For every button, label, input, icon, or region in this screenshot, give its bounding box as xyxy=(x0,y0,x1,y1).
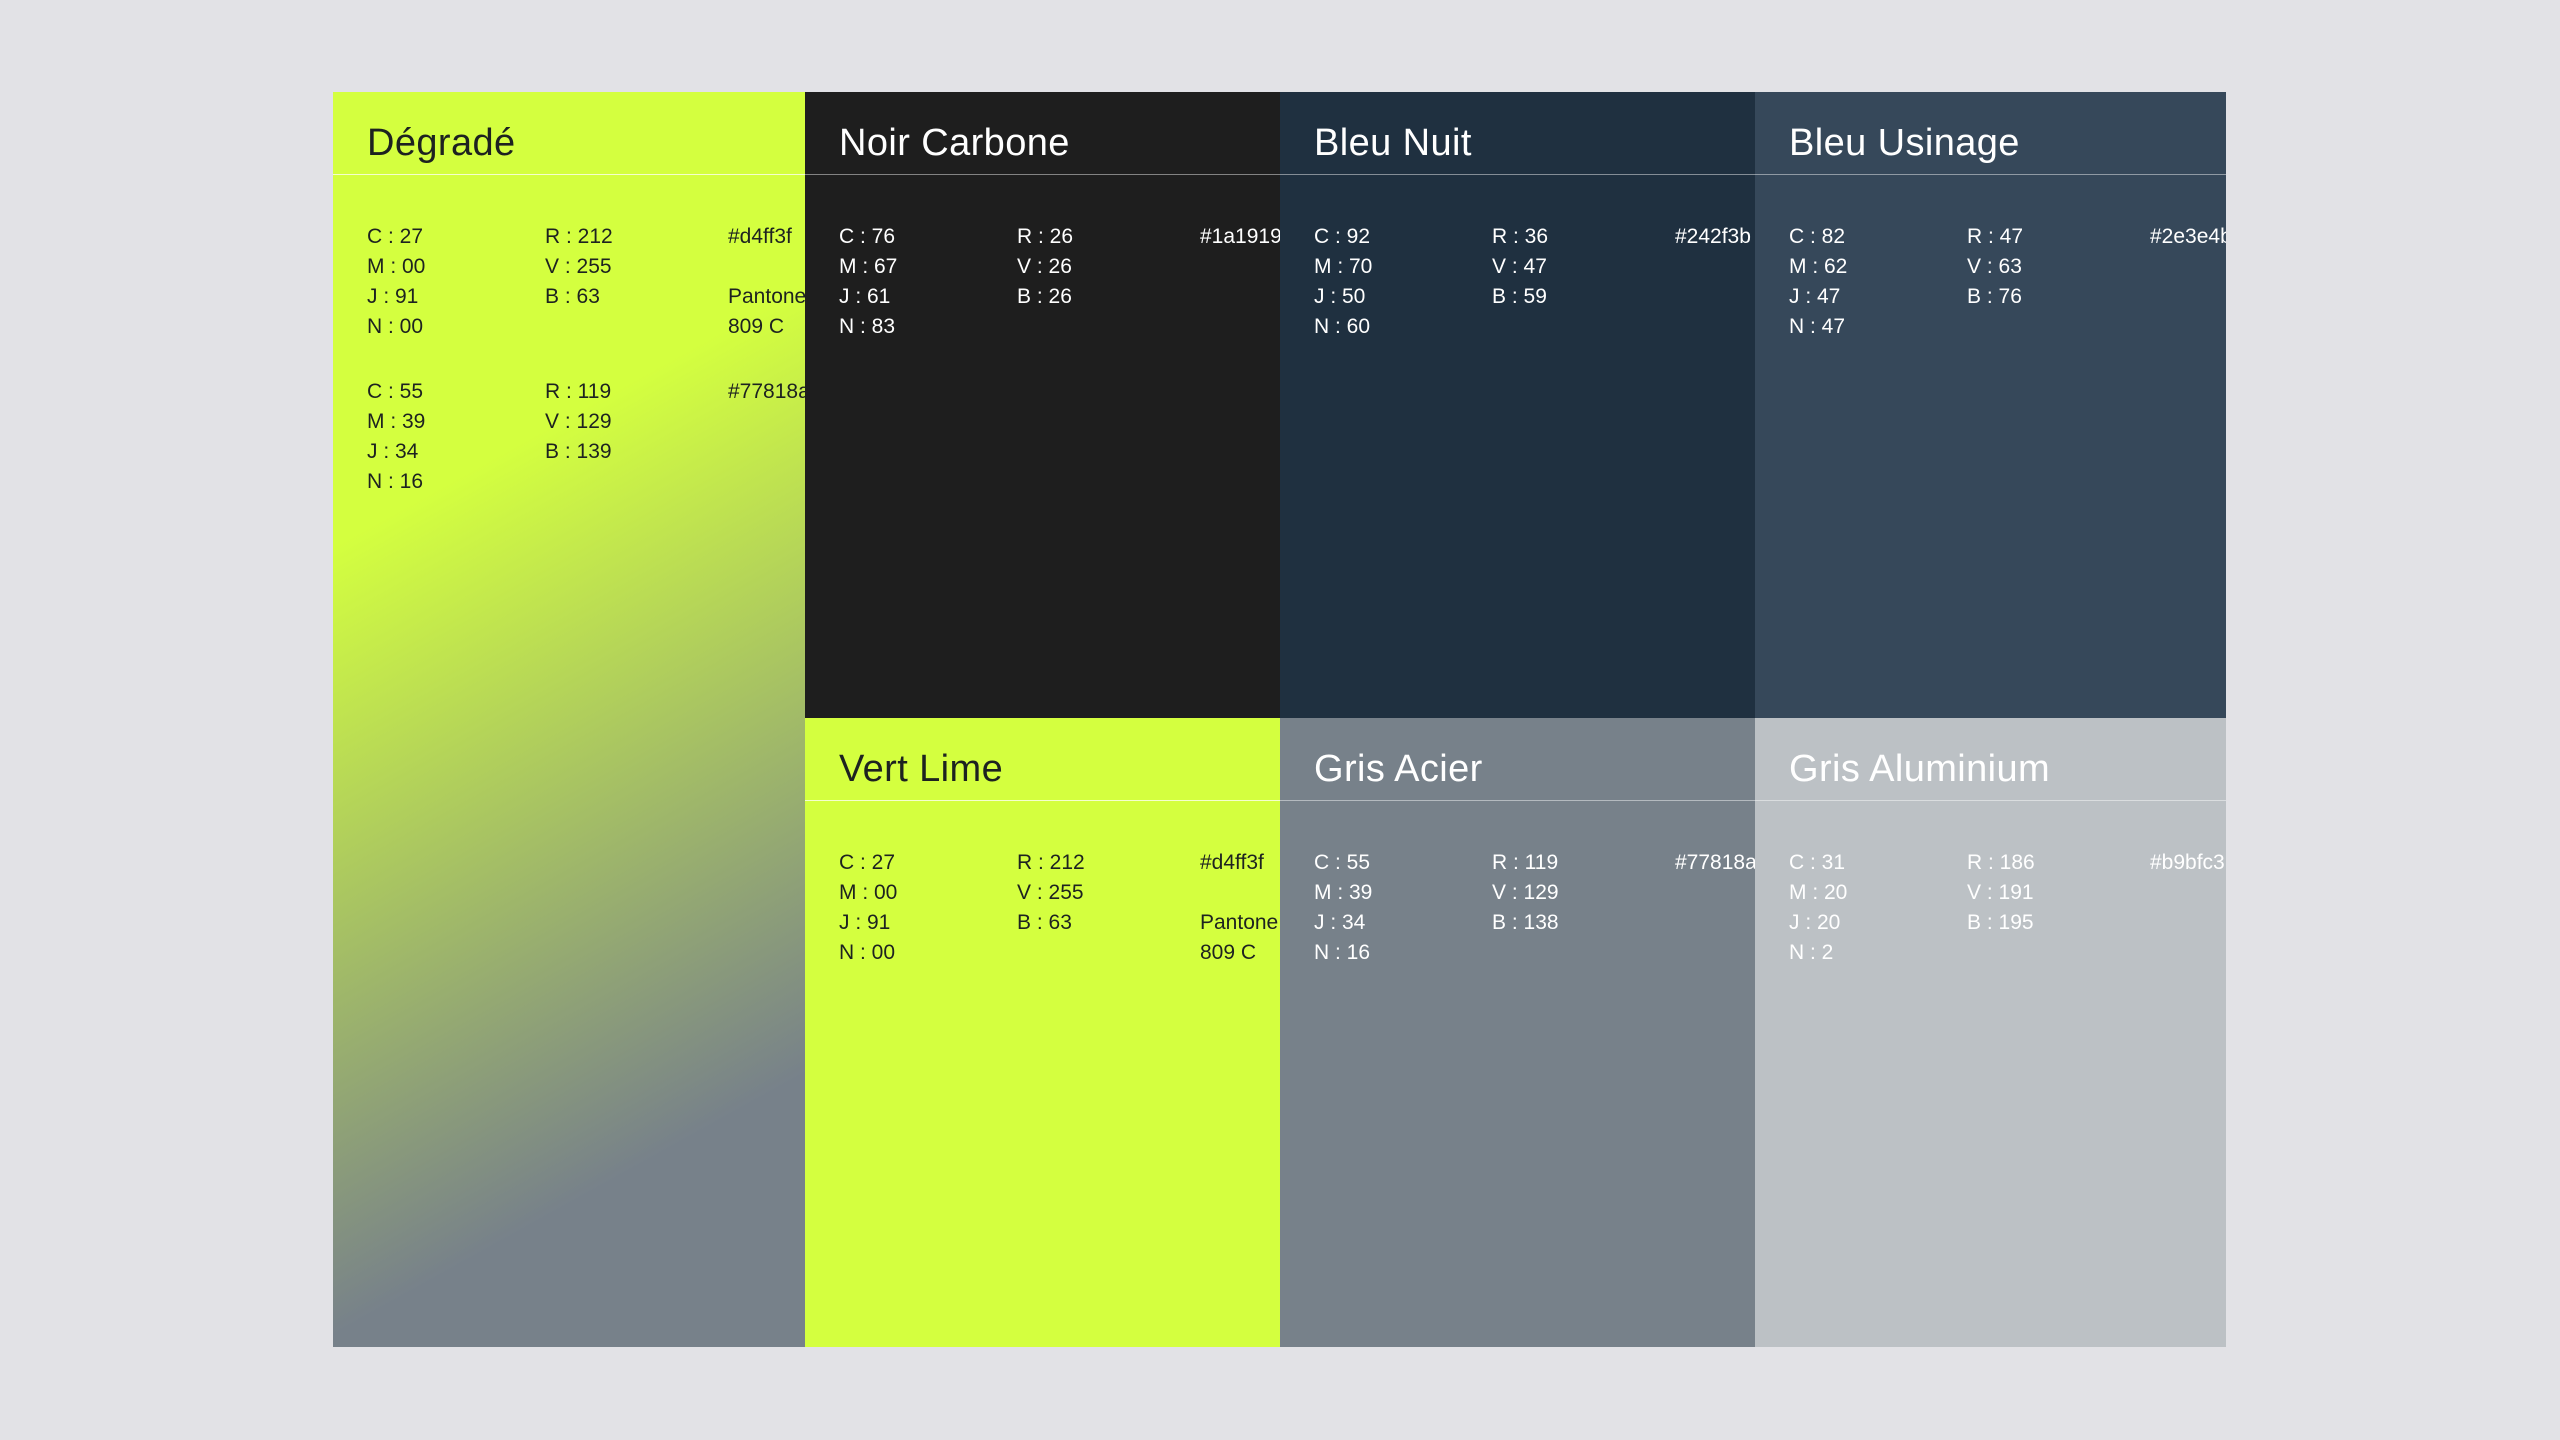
spec-block-secondary: C : 55 M : 39 J : 34 N : 16 R : 119 V : … xyxy=(367,377,805,497)
spacer xyxy=(728,252,805,282)
rgb-column: R : 186 V : 191 B : 195 xyxy=(1967,848,2150,938)
hex-column: #77818a xyxy=(728,377,805,407)
hex-value: #b9bfc3 xyxy=(2150,848,2226,878)
cmyk-m: M : 00 xyxy=(839,878,1017,908)
swatch-bleu-nuit[interactable]: Bleu Nuit C : 92 M : 70 J : 50 N : 60 R … xyxy=(1280,92,1755,718)
cmyk-j: J : 91 xyxy=(367,282,545,312)
swatch-title-bleu-usinage: Bleu Usinage xyxy=(1789,124,2020,162)
cmyk-j: J : 91 xyxy=(839,908,1017,938)
rgb-v: V : 129 xyxy=(545,407,728,437)
rgb-b: B : 26 xyxy=(1017,282,1200,312)
swatch-title-noir-carbone: Noir Carbone xyxy=(839,124,1070,162)
hex-column: #1a1919 xyxy=(1200,222,1280,252)
rgb-v: V : 63 xyxy=(1967,252,2150,282)
rgb-r: R : 47 xyxy=(1967,222,2150,252)
swatch-noir-carbone[interactable]: Noir Carbone C : 76 M : 67 J : 61 N : 83… xyxy=(805,92,1280,718)
cmyk-m: M : 39 xyxy=(367,407,545,437)
spec-block-primary: C : 76 M : 67 J : 61 N : 83 R : 26 V : 2… xyxy=(839,222,1280,342)
cmyk-column: C : 55 M : 39 J : 34 N : 16 xyxy=(1314,848,1492,968)
rgb-v: V : 255 xyxy=(1017,878,1200,908)
hex-value: #77818a xyxy=(1675,848,1755,878)
title-divider xyxy=(1755,174,2226,175)
cmyk-j: J : 20 xyxy=(1789,908,1967,938)
rgb-column: R : 36 V : 47 B : 59 xyxy=(1492,222,1675,312)
cmyk-column: C : 82 M : 62 J : 47 N : 47 xyxy=(1789,222,1967,342)
cmyk-n: N : 16 xyxy=(367,467,545,497)
title-divider xyxy=(1280,800,1755,801)
cmyk-column: C : 27 M : 00 J : 91 N : 00 xyxy=(367,222,545,342)
hex-value: #d4ff3f xyxy=(1200,848,1280,878)
hex-column: #b9bfc3 xyxy=(2150,848,2226,878)
rgb-b: B : 195 xyxy=(1967,908,2150,938)
cmyk-j: J : 61 xyxy=(839,282,1017,312)
cmyk-c: C : 31 xyxy=(1789,848,1967,878)
cmyk-n: N : 47 xyxy=(1789,312,1967,342)
cmyk-m: M : 39 xyxy=(1314,878,1492,908)
rgb-v: V : 129 xyxy=(1492,878,1675,908)
hex-column: #d4ff3f Pantone 809 C xyxy=(728,222,805,342)
cmyk-n: N : 16 xyxy=(1314,938,1492,968)
title-divider xyxy=(1755,800,2226,801)
cmyk-c: C : 76 xyxy=(839,222,1017,252)
rgb-v: V : 26 xyxy=(1017,252,1200,282)
pantone-label: Pantone xyxy=(728,282,805,312)
cmyk-c: C : 55 xyxy=(1314,848,1492,878)
swatch-gris-acier[interactable]: Gris Acier C : 55 M : 39 J : 34 N : 16 R… xyxy=(1280,718,1755,1347)
swatch-title-gris-acier: Gris Acier xyxy=(1314,750,1483,788)
spec-block-primary: C : 27 M : 00 J : 91 N : 00 R : 212 V : … xyxy=(367,222,805,342)
rgb-v: V : 255 xyxy=(545,252,728,282)
swatch-title-bleu-nuit: Bleu Nuit xyxy=(1314,124,1472,162)
title-divider xyxy=(1280,174,1755,175)
cmyk-c: C : 82 xyxy=(1789,222,1967,252)
cmyk-c: C : 27 xyxy=(367,222,545,252)
swatch-degrade[interactable]: Dégradé C : 27 M : 00 J : 91 N : 00 R : … xyxy=(333,92,805,1347)
cmyk-n: N : 00 xyxy=(367,312,545,342)
rgb-column: R : 212 V : 255 B : 63 xyxy=(545,222,728,312)
rgb-r: R : 212 xyxy=(545,222,728,252)
cmyk-column: C : 27 M : 00 J : 91 N : 00 xyxy=(839,848,1017,968)
rgb-b: B : 63 xyxy=(545,282,728,312)
cmyk-column: C : 55 M : 39 J : 34 N : 16 xyxy=(367,377,545,497)
rgb-r: R : 119 xyxy=(545,377,728,407)
hex-value: #1a1919 xyxy=(1200,222,1280,252)
cmyk-n: N : 83 xyxy=(839,312,1017,342)
swatch-vert-lime[interactable]: Vert Lime C : 27 M : 00 J : 91 N : 00 R … xyxy=(805,718,1280,1347)
swatch-title-vert-lime: Vert Lime xyxy=(839,750,1003,788)
cmyk-c: C : 92 xyxy=(1314,222,1492,252)
cmyk-j: J : 34 xyxy=(1314,908,1492,938)
rgb-b: B : 138 xyxy=(1492,908,1675,938)
rgb-column: R : 119 V : 129 B : 139 xyxy=(545,377,728,467)
cmyk-column: C : 31 M : 20 J : 20 N : 2 xyxy=(1789,848,1967,968)
spec-block-primary: C : 55 M : 39 J : 34 N : 16 R : 119 V : … xyxy=(1314,848,1755,968)
swatch-gris-aluminium[interactable]: Gris Aluminium C : 31 M : 20 J : 20 N : … xyxy=(1755,718,2226,1347)
cmyk-m: M : 62 xyxy=(1789,252,1967,282)
cmyk-j: J : 34 xyxy=(367,437,545,467)
hex-value: #d4ff3f xyxy=(728,222,805,252)
pantone-code: 809 C xyxy=(1200,938,1280,968)
rgb-r: R : 26 xyxy=(1017,222,1200,252)
title-divider xyxy=(333,174,805,175)
rgb-b: B : 139 xyxy=(545,437,728,467)
cmyk-c: C : 55 xyxy=(367,377,545,407)
hex-value: #77818a xyxy=(728,377,805,407)
title-divider xyxy=(805,800,1280,801)
spec-block-primary: C : 31 M : 20 J : 20 N : 2 R : 186 V : 1… xyxy=(1789,848,2226,968)
rgb-v: V : 47 xyxy=(1492,252,1675,282)
cmyk-n: N : 2 xyxy=(1789,938,1967,968)
rgb-r: R : 186 xyxy=(1967,848,2150,878)
rgb-b: B : 59 xyxy=(1492,282,1675,312)
title-divider xyxy=(805,174,1280,175)
pantone-code: 809 C xyxy=(728,312,805,342)
rgb-b: B : 63 xyxy=(1017,908,1200,938)
swatch-title-gris-aluminium: Gris Aluminium xyxy=(1789,750,2050,788)
hex-column: #242f3b xyxy=(1675,222,1755,252)
cmyk-column: C : 76 M : 67 J : 61 N : 83 xyxy=(839,222,1017,342)
rgb-r: R : 36 xyxy=(1492,222,1675,252)
cmyk-column: C : 92 M : 70 J : 50 N : 60 xyxy=(1314,222,1492,342)
cmyk-n: N : 00 xyxy=(839,938,1017,968)
cmyk-m: M : 00 xyxy=(367,252,545,282)
cmyk-c: C : 27 xyxy=(839,848,1017,878)
hex-value: #242f3b xyxy=(1675,222,1755,252)
cmyk-m: M : 67 xyxy=(839,252,1017,282)
hex-column: #2e3e4b xyxy=(2150,222,2226,252)
rgb-r: R : 212 xyxy=(1017,848,1200,878)
cmyk-n: N : 60 xyxy=(1314,312,1492,342)
pantone-label: Pantone xyxy=(1200,908,1280,938)
rgb-column: R : 47 V : 63 B : 76 xyxy=(1967,222,2150,312)
hex-value: #2e3e4b xyxy=(2150,222,2226,252)
spec-block-primary: C : 27 M : 00 J : 91 N : 00 R : 212 V : … xyxy=(839,848,1280,968)
rgb-r: R : 119 xyxy=(1492,848,1675,878)
swatch-title-degrade: Dégradé xyxy=(367,124,516,162)
swatch-bleu-usinage[interactable]: Bleu Usinage C : 82 M : 62 J : 47 N : 47… xyxy=(1755,92,2226,718)
cmyk-m: M : 70 xyxy=(1314,252,1492,282)
hex-column: #d4ff3f Pantone 809 C xyxy=(1200,848,1280,968)
spacer xyxy=(1200,878,1280,908)
rgb-column: R : 26 V : 26 B : 26 xyxy=(1017,222,1200,312)
hex-column: #77818a xyxy=(1675,848,1755,878)
rgb-v: V : 191 xyxy=(1967,878,2150,908)
rgb-column: R : 212 V : 255 B : 63 xyxy=(1017,848,1200,938)
spec-block-primary: C : 92 M : 70 J : 50 N : 60 R : 36 V : 4… xyxy=(1314,222,1755,342)
spec-block-primary: C : 82 M : 62 J : 47 N : 47 R : 47 V : 6… xyxy=(1789,222,2226,342)
cmyk-m: M : 20 xyxy=(1789,878,1967,908)
color-palette-board: Dégradé C : 27 M : 00 J : 91 N : 00 R : … xyxy=(333,92,2226,1347)
rgb-b: B : 76 xyxy=(1967,282,2150,312)
cmyk-j: J : 50 xyxy=(1314,282,1492,312)
cmyk-j: J : 47 xyxy=(1789,282,1967,312)
rgb-column: R : 119 V : 129 B : 138 xyxy=(1492,848,1675,938)
